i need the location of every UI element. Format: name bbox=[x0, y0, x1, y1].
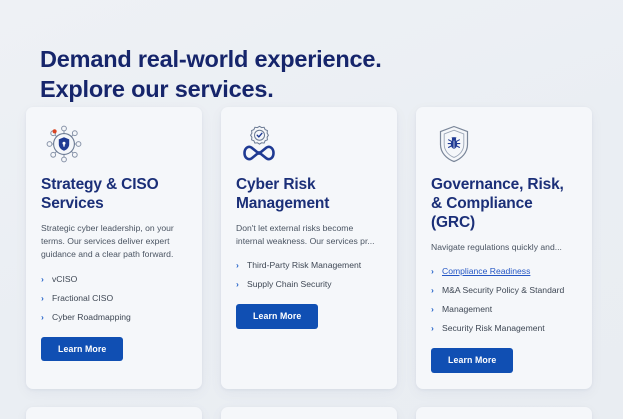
page-title: Demand real-world experience. Explore ou… bbox=[40, 44, 580, 104]
learn-more-button[interactable]: Learn More bbox=[41, 337, 123, 362]
shield-network-icon bbox=[41, 123, 87, 165]
card-description: Navigate regulations quickly and... bbox=[431, 241, 577, 254]
service-link-label: Cyber Roadmapping bbox=[52, 312, 131, 322]
chevron-right-icon: › bbox=[41, 273, 44, 285]
chevron-right-icon: › bbox=[236, 278, 239, 290]
service-link-label: vCISO bbox=[52, 274, 77, 284]
learn-more-button[interactable]: Learn More bbox=[431, 348, 513, 373]
service-link-item[interactable]: › Management bbox=[431, 303, 577, 315]
service-link-item[interactable]: › Security Risk Management bbox=[431, 322, 577, 334]
service-link-list: › Third-Party Risk Management › Supply C… bbox=[236, 259, 382, 290]
service-card-cyber-risk-management[interactable]: Cyber Risk Management Don't let external… bbox=[221, 107, 397, 389]
service-link-label: Supply Chain Security bbox=[247, 279, 332, 289]
chevron-right-icon: › bbox=[431, 284, 434, 296]
service-card-grc[interactable]: Governance, Risk, & Compliance (GRC) Nav… bbox=[416, 107, 592, 389]
page-title-line-2: Explore our services. bbox=[40, 74, 580, 104]
card-description: Don't let external risks become internal… bbox=[236, 222, 382, 248]
service-link-label: Compliance Readiness bbox=[442, 266, 530, 276]
service-link-label: Third-Party Risk Management bbox=[247, 260, 361, 270]
service-link-label: Management bbox=[442, 304, 492, 314]
chevron-right-icon: › bbox=[236, 259, 239, 271]
card-description: Strategic cyber leadership, on your term… bbox=[41, 222, 187, 262]
service-card-grid: Strategy & CISO Services Strategic cyber… bbox=[26, 107, 598, 419]
service-link-label: Security Risk Management bbox=[442, 323, 545, 333]
shield-bug-icon bbox=[431, 123, 477, 165]
service-link-item[interactable]: › Third-Party Risk Management bbox=[236, 259, 382, 271]
service-link-item[interactable]: › Cyber Roadmapping bbox=[41, 311, 187, 323]
infinity-gear-icon bbox=[236, 123, 282, 165]
service-card-cyber-risk-management-row2[interactable] bbox=[221, 407, 397, 419]
service-link-list: › vCISO › Fractional CISO › Cyber Roadma… bbox=[41, 273, 187, 323]
service-link-label: M&A Security Policy & Standard bbox=[442, 285, 564, 295]
chevron-right-icon: › bbox=[41, 292, 44, 304]
chevron-right-icon: › bbox=[431, 322, 434, 334]
card-title: Governance, Risk, & Compliance (GRC) bbox=[431, 175, 577, 232]
service-card-strategy-ciso[interactable]: Strategy & CISO Services Strategic cyber… bbox=[26, 107, 202, 389]
learn-more-button[interactable]: Learn More bbox=[236, 304, 318, 329]
card-title: Cyber Risk Management bbox=[236, 175, 382, 213]
service-link-item[interactable]: › Compliance Readiness bbox=[431, 265, 577, 277]
service-card-strategy-ciso-row2[interactable] bbox=[26, 407, 202, 419]
service-link-item[interactable]: › Fractional CISO bbox=[41, 292, 187, 304]
service-link-item[interactable]: › Supply Chain Security bbox=[236, 278, 382, 290]
service-link-item[interactable]: › vCISO bbox=[41, 273, 187, 285]
chevron-right-icon: › bbox=[431, 303, 434, 315]
service-link-label: Fractional CISO bbox=[52, 293, 113, 303]
service-link-item[interactable]: › M&A Security Policy & Standard bbox=[431, 284, 577, 296]
services-section: Demand real-world experience. Explore ou… bbox=[0, 0, 623, 419]
chevron-right-icon: › bbox=[431, 265, 434, 277]
page-title-line-1: Demand real-world experience. bbox=[40, 44, 580, 74]
card-title: Strategy & CISO Services bbox=[41, 175, 187, 213]
service-link-list: › Compliance Readiness › M&A Security Po… bbox=[431, 265, 577, 334]
service-card-grc-row2[interactable] bbox=[416, 407, 592, 419]
chevron-right-icon: › bbox=[41, 311, 44, 323]
